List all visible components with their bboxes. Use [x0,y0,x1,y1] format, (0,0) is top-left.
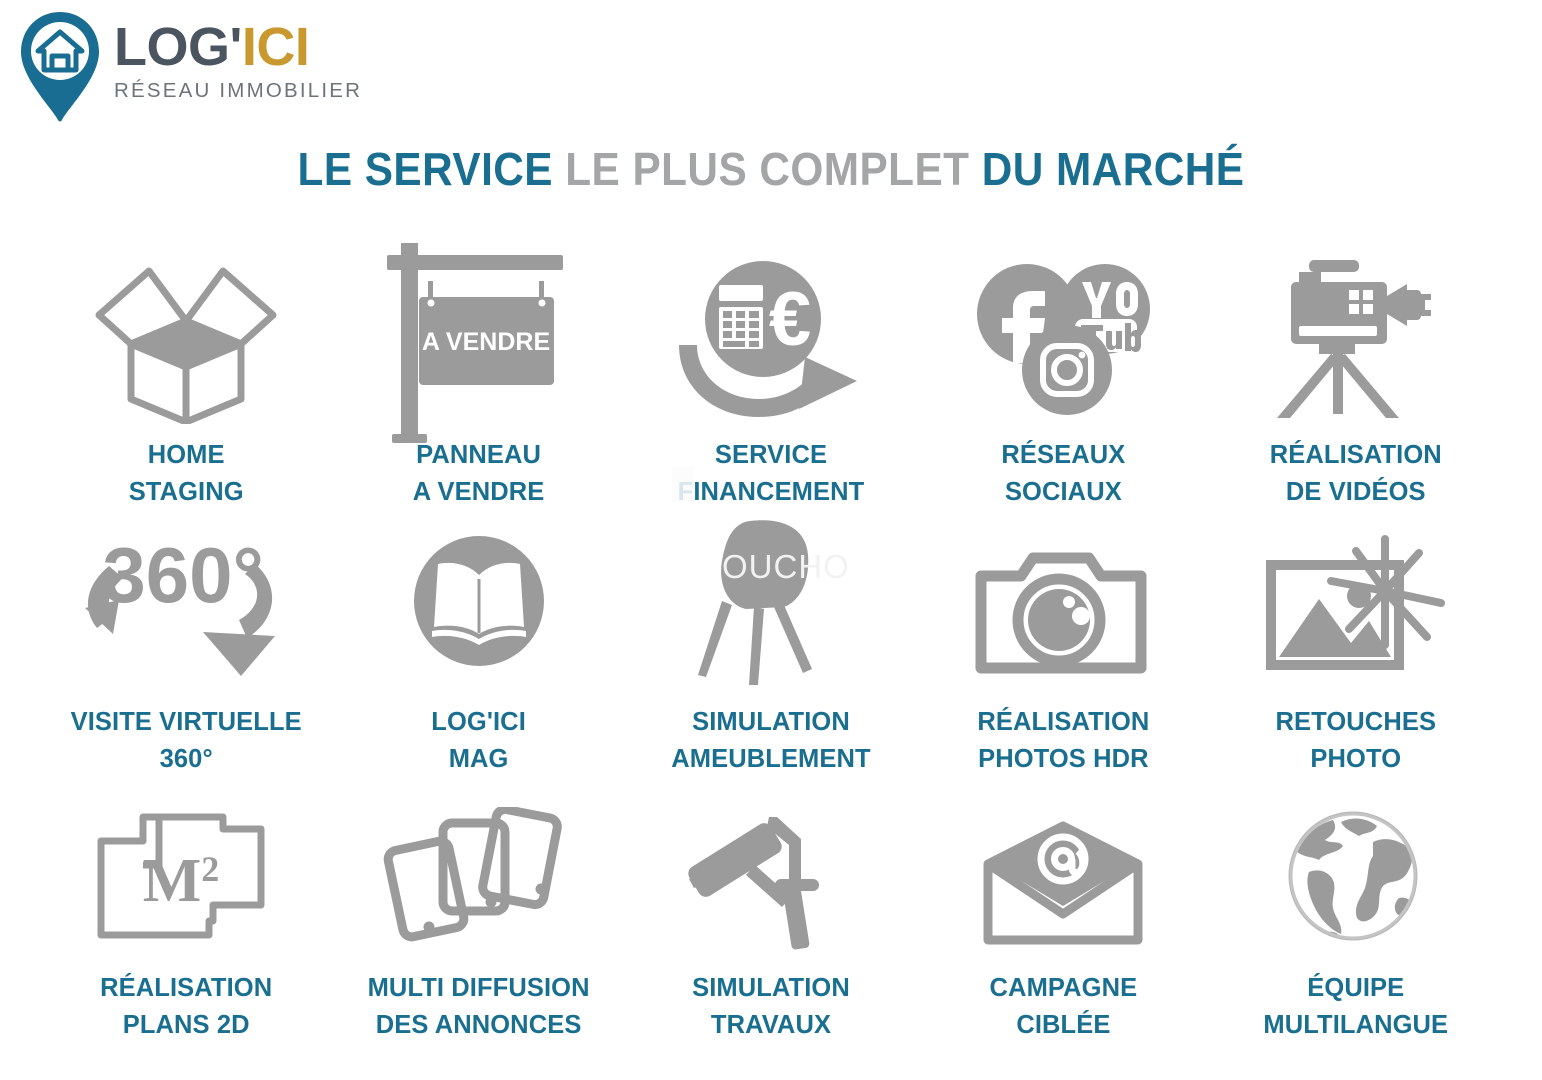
slide-canvas: LOG'ICI RÉSEAU IMMOBILIER LE SERVICE LE … [0,0,1542,1080]
photo-camera-icon [917,521,1209,696]
page-title-part3: DU MARCHÉ [982,143,1245,195]
service-label: LOG'ICIMAG [431,704,526,778]
service-item-service-financement[interactable]: € SERVICEFINANCEMENT [625,250,917,517]
service-label: SIMULATIONAMEUBLEMENT [671,704,870,778]
social-networks-icon [917,254,1209,429]
brand-name: LOG'ICI [114,22,362,73]
service-item-realisation-videos[interactable]: RÉALISATIONDE VIDÉOS [1210,250,1502,517]
video-camera-tripod-icon [1210,254,1502,429]
brand-name-part2: ICI [242,17,310,77]
service-label: VISITE VIRTUELLE360° [71,704,302,778]
page-title-part2: LE PLUS COMPLET [565,143,981,195]
service-item-logici-mag[interactable]: LOG'ICIMAG [332,517,624,784]
service-item-panneau-a-vendre[interactable]: A VENDRE PANNEAUA VENDRE [332,250,624,517]
service-label: RÉALISATIONPHOTOS HDR [977,704,1149,778]
map-pin-house-icon [14,8,106,126]
service-item-simulation-ameublement[interactable]: SIMULATIONAMEUBLEMENT [625,517,917,784]
open-box-icon [40,254,332,429]
service-label: RETOUCHESPHOTO [1276,704,1437,778]
globe-icon [1210,787,1502,962]
service-label: PANNEAUA VENDRE [413,437,545,511]
service-label: RÉALISATIONPLANS 2D [100,970,272,1044]
brand-tagline: RÉSEAU IMMOBILIER [114,79,362,103]
brand-name-part1: LOG' [114,17,242,77]
360-badge-text: 360° [102,531,263,619]
service-label: CAMPAGNECIBLÉE [990,970,1138,1044]
multi-devices-icon [332,787,624,962]
instagram-icon [1022,325,1112,415]
service-label: SERVICEFINANCEMENT [678,437,865,511]
service-item-reseaux-sociaux[interactable]: RÉSEAUXSOCIAUX [917,250,1209,517]
open-book-circle-icon [332,521,624,696]
sign-text: A VENDRE [421,328,549,356]
services-grid: HOMESTAGING A VENDRE [40,250,1502,1050]
page-title: LE SERVICE LE PLUS COMPLET DU MARCHÉ [62,142,1481,196]
service-label: ÉQUIPEMULTILANGUE [1263,970,1448,1044]
service-label: HOMESTAGING [129,437,244,511]
image-sparkle-icon [1210,521,1502,696]
calculator-euro-arrow-icon: € [625,254,917,429]
page-title-part1: LE SERVICE [298,143,566,195]
360-rotation-icon: 360° [40,521,332,696]
service-item-visite-virtuelle-360[interactable]: 360° VISITE VIRTUELLE360° [40,517,332,784]
service-item-multi-diffusion[interactable]: MULTI DIFFUSIONDES ANNONCES [332,783,624,1050]
service-label: RÉSEAUXSOCIAUX [1001,437,1125,511]
svg-text:M2: M2 [143,847,220,915]
service-item-retouches-photo[interactable]: RETOUCHESPHOTO [1210,517,1502,784]
chair-icon [625,521,917,696]
service-item-home-staging[interactable]: HOMESTAGING [40,250,332,517]
service-item-campagne-ciblee[interactable]: CAMPAGNECIBLÉE [917,783,1209,1050]
service-label: MULTI DIFFUSIONDES ANNONCES [368,970,590,1044]
brand-logo: LOG'ICI RÉSEAU IMMOBILIER [14,8,362,126]
service-item-simulation-travaux[interactable]: SIMULATIONTRAVAUX [625,783,917,1050]
svg-text:€: € [769,277,811,362]
service-label: RÉALISATIONDE VIDÉOS [1270,437,1442,511]
service-item-realisation-plans-2d[interactable]: M2 RÉALISATIONPLANS 2D [40,783,332,1050]
email-at-icon [917,787,1209,962]
service-label: SIMULATIONTRAVAUX [692,970,850,1044]
for-sale-sign-icon: A VENDRE [332,254,624,429]
floor-plan-m2-icon: M2 [40,787,332,962]
service-item-realisation-photos-hdr[interactable]: RÉALISATIONPHOTOS HDR [917,517,1209,784]
paint-roller-icon [625,787,917,962]
service-item-equipe-multilangue[interactable]: ÉQUIPEMULTILANGUE [1210,783,1502,1050]
